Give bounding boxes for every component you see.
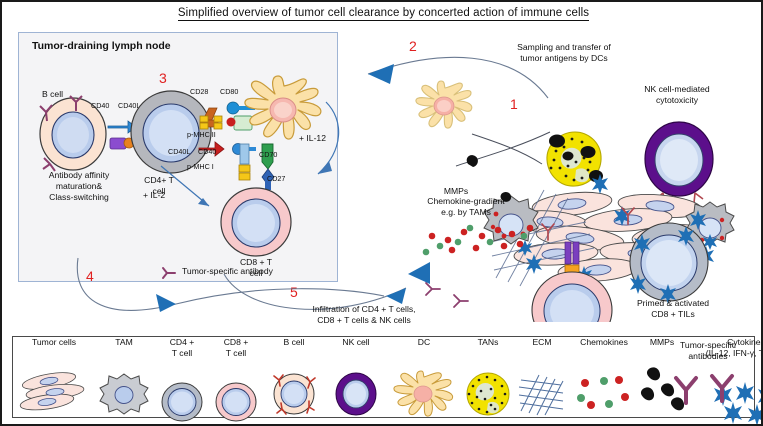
- legend-label-cd8-line2: T cell: [209, 348, 263, 359]
- legend-label-dc: DC: [389, 337, 459, 348]
- legend-label-cd8-line1: CD8 +: [209, 337, 263, 348]
- receptor-label-cd70: CD70: [259, 150, 277, 159]
- legend-label-tans: TANs: [461, 337, 515, 348]
- legend-icon-tumor-cells: [15, 371, 93, 417]
- legend-item-b-cell: B cell: [265, 337, 323, 348]
- receptor-label-cd28: CD28: [190, 87, 208, 96]
- step-2-text: Sampling and transfer of tumor antigens …: [484, 42, 644, 64]
- legend-icon-cd4-t-cell: [155, 379, 209, 425]
- nk-cell-graphic: [643, 121, 715, 197]
- legend-icon-tumor-specific-antibodies: [662, 369, 750, 409]
- figure-root: Simplified overview of tumor cell cleara…: [0, 0, 763, 426]
- legend-icon-chemokines: [569, 371, 639, 417]
- til-tumor-synapse-receptors: [554, 242, 590, 286]
- legend-icon-cd8-t-cell: [209, 379, 263, 425]
- legend-item-chemokines: Chemokines: [569, 337, 639, 348]
- legend-icon-tans: [461, 371, 515, 417]
- figure-title: Simplified overview of tumor cell cleara…: [2, 7, 763, 19]
- legend-item-dc: DC: [389, 337, 459, 348]
- legend-icon-ecm: [517, 371, 567, 417]
- legend-item-ecm: ECM: [517, 337, 567, 348]
- legend-label-cd4-line2: T cell: [155, 348, 209, 359]
- legend-label-chemokines: Chemokines: [569, 337, 639, 348]
- chemokine-gradient-label: Chemokine-gradient e.g. by TAMs: [410, 196, 522, 218]
- tumor-cell-mass-graphic: [510, 190, 730, 286]
- mmps-label: MMPs: [428, 186, 484, 197]
- receptor-label-cd40: CD40: [91, 101, 109, 110]
- antibody-affinity-note: Antibody affinity maturation& Class-swit…: [24, 170, 134, 203]
- il12-arrow: [292, 100, 348, 186]
- ecm-mesh-graphic: [490, 182, 610, 292]
- figure-title-text: Simplified overview of tumor cell cleara…: [178, 7, 589, 21]
- tan-neutrophil-graphic: [544, 130, 606, 190]
- legend-label-nk-cell: NK cell: [325, 337, 387, 348]
- receptor-label-pmhc2: p-MHC II: [187, 130, 216, 139]
- step-4-number: 4: [86, 268, 94, 284]
- mmp-antigen-transport: [446, 126, 566, 186]
- receptor-label-cd40-2: CD40: [198, 147, 216, 156]
- legend-label-cd4-line1: CD4 +: [155, 337, 209, 348]
- legend-item-tam: TAM: [95, 337, 153, 348]
- legend-label-b-cell: B cell: [265, 337, 323, 348]
- legend-label-tumor-cells: Tumor cells: [15, 337, 93, 348]
- legend-item-tumor-specific-antibodies: Tumor-specific antibodies: [662, 340, 754, 409]
- legend-item-tans: TANs: [461, 337, 515, 348]
- tam-macrophage-graphic-right: [682, 200, 738, 254]
- tumor-antibody-icon-a: [538, 222, 562, 242]
- legend-icon-nk-cell: [325, 371, 387, 417]
- step-3-number: 3: [159, 70, 167, 86]
- legend-label-tam: TAM: [95, 337, 153, 348]
- il2-arrow: [157, 162, 227, 218]
- nk-cytotoxicity-label: NK cell-mediated cytotoxicity: [622, 84, 732, 106]
- receptor-label-cd27: CD27: [267, 174, 285, 183]
- legend-item-tumor-cells: Tumor cells: [15, 337, 93, 348]
- lymph-node-panel-title: Tumor-draining lymph node: [32, 40, 171, 52]
- legend-panel: Tumor cells TAM: [12, 336, 755, 418]
- legend-label-ecm: ECM: [517, 337, 567, 348]
- legend-label-tsa-line1: Tumor-specific: [662, 340, 754, 351]
- legend-label-tsa-line2: antibodies: [662, 351, 754, 362]
- step-2-number: 2: [409, 38, 417, 54]
- tme-panel-contents: 1 MMPs NK cell-mediated cytotoxicity: [406, 74, 750, 322]
- legend-icon-tam: [95, 371, 153, 417]
- tam-macrophage-graphic-left: [480, 194, 542, 254]
- legend-item-nk-cell: NK cell: [325, 337, 387, 348]
- step-4-arrow: [64, 238, 394, 328]
- receptor-label-cd40l-2: CD40L: [168, 147, 190, 156]
- legend-item-cd8-t-cell: CD8 + T cell: [209, 337, 263, 358]
- tumor-antibody-icon-b: [618, 206, 642, 226]
- chemokine-dots-graphic: [412, 222, 542, 268]
- receptor-label-cd80: CD80: [220, 87, 238, 96]
- legend-icon-b-cell: [265, 371, 323, 417]
- tme-cd8-til-center-graphic: [514, 272, 630, 322]
- primed-tils-label: Primed & activated CD8 + TILs: [606, 298, 740, 320]
- cytokine-stars-graphic: [526, 170, 726, 290]
- legend-icon-dc: [389, 371, 459, 417]
- legend-item-cd4-t-cell: CD4 + T cell: [155, 337, 209, 358]
- primed-til-graphic: [628, 222, 710, 302]
